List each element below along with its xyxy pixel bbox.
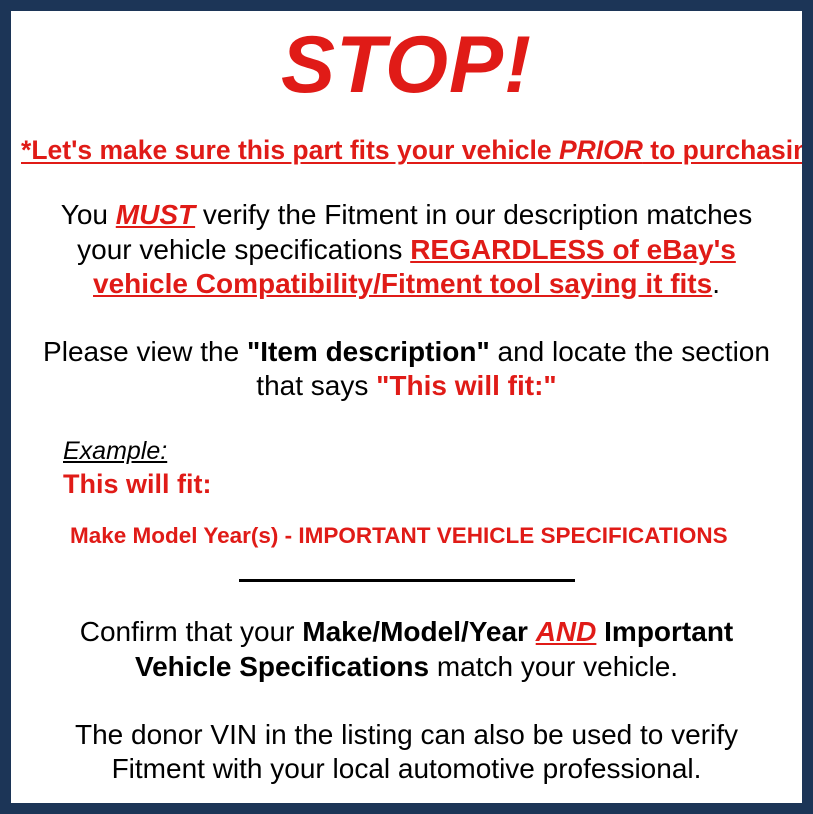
confirm-paragraph: Confirm that your Make/Model/Year AND Im… xyxy=(21,615,792,683)
tagline-banner: *Let's make sure this part fits your veh… xyxy=(21,135,792,165)
must-text-part3: . xyxy=(712,268,720,299)
tagline-after: to purchasing* xyxy=(643,135,813,165)
tagline-prior-emphasis: PRIOR xyxy=(559,135,643,165)
example-label: Example: xyxy=(63,437,792,466)
stop-heading: STOP! xyxy=(21,25,792,106)
divider-rule xyxy=(239,579,575,582)
example-spec-line: Make Model Year(s) - IMPORTANT VEHICLE S… xyxy=(63,522,792,549)
must-emphasis: MUST xyxy=(116,199,195,230)
confirm-text-part1: Confirm that your xyxy=(80,616,303,647)
this-will-fit-quote: "This will fit:" xyxy=(376,370,557,401)
tagline-before: *Let's make sure this part fits your veh… xyxy=(21,135,559,165)
must-verify-paragraph: You MUST verify the Fitment in our descr… xyxy=(21,198,792,300)
item-description-label: "Item description" xyxy=(247,336,490,367)
and-emphasis: AND xyxy=(536,616,597,647)
must-text-part1: You xyxy=(61,199,116,230)
notice-content: STOP! *Let's make sure this part fits yo… xyxy=(11,25,802,814)
view-text-part1: Please view the xyxy=(43,336,247,367)
example-block: Example: This will fit: Make Model Year(… xyxy=(21,437,792,549)
item-description-paragraph: Please view the "Item description" and l… xyxy=(21,335,792,403)
fitment-notice-card: STOP! *Let's make sure this part fits yo… xyxy=(0,0,813,814)
donor-vin-paragraph: The donor VIN in the listing can also be… xyxy=(21,718,792,786)
section-divider xyxy=(21,571,792,585)
confirm-text-part2: match your vehicle. xyxy=(429,651,678,682)
example-fit-heading: This will fit: xyxy=(63,468,792,500)
make-model-year-label: Make/Model/Year xyxy=(302,616,528,647)
